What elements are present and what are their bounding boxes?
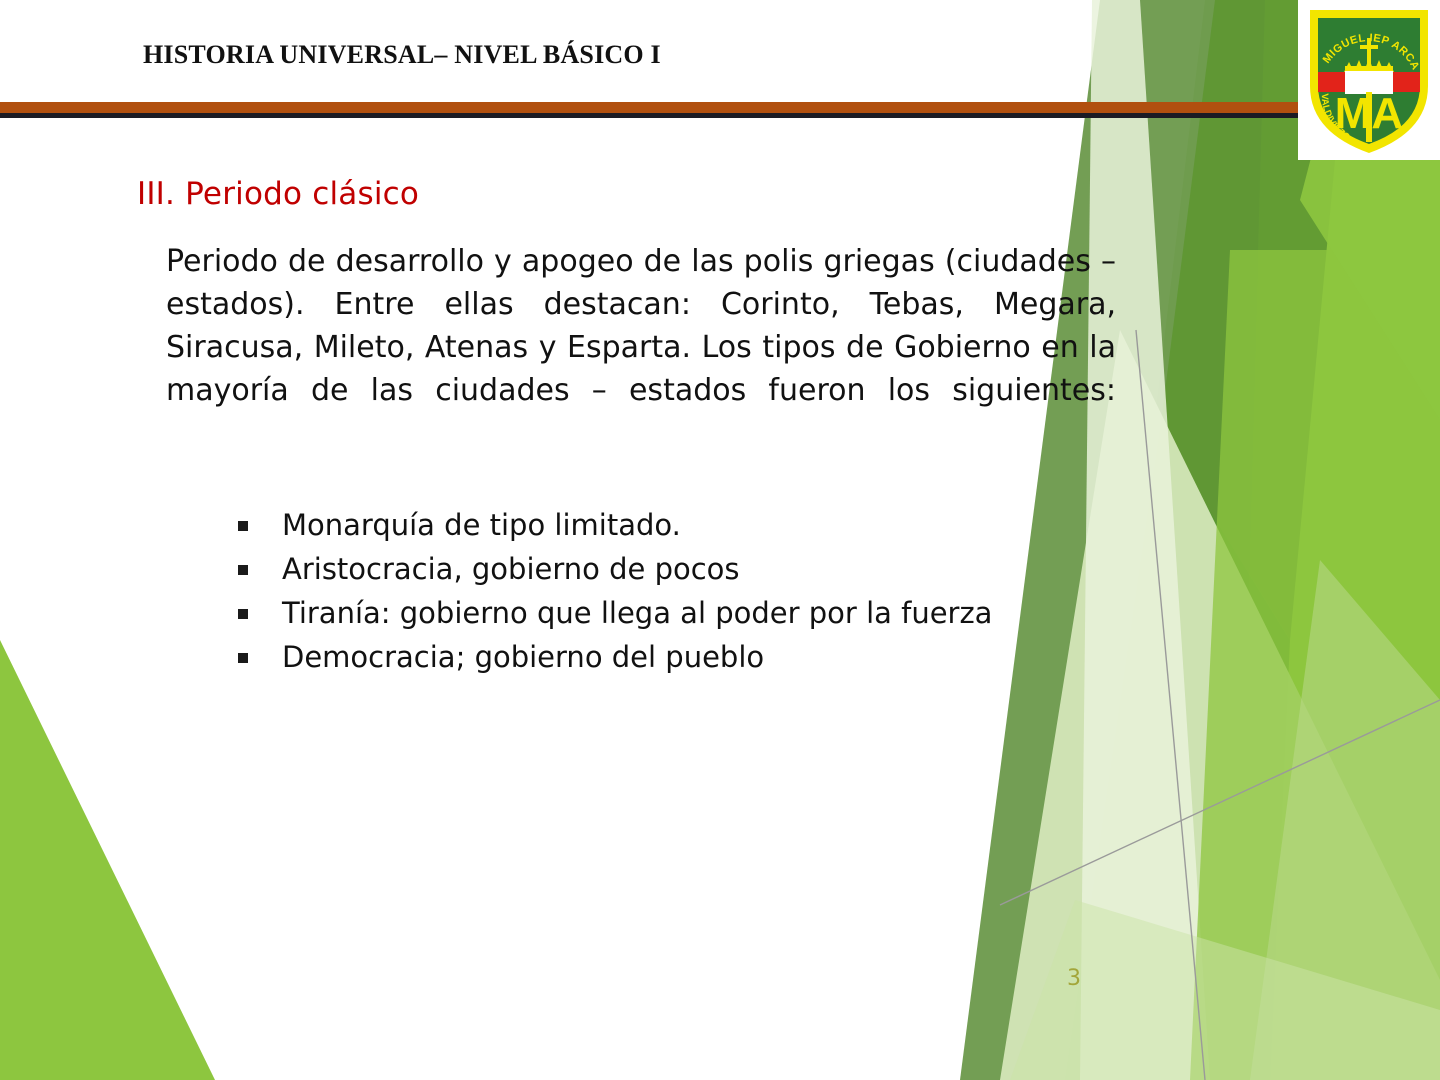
list-item: Monarquía de tipo limitado. <box>238 503 992 547</box>
shield-icon: MIGUEL IEP ARCANGEL MA VALDIVIEZO S.M. <box>1298 0 1440 160</box>
band-white-top-trim <box>1345 66 1393 71</box>
list-item-label: Democracia; gobierno del pueblo <box>282 640 764 674</box>
section-heading: III. Periodo clásico <box>137 176 419 212</box>
list-item: Democracia; gobierno del pueblo <box>238 635 992 679</box>
bullet-square-icon <box>238 565 248 575</box>
list-item-label: Tiranía: gobierno que llega al poder por… <box>282 596 992 630</box>
slide-content: III. Periodo clásico Periodo de desarrol… <box>0 0 1440 1080</box>
list-item-label: Monarquía de tipo limitado. <box>282 508 681 542</box>
list-item-label: Aristocracia, gobierno de pocos <box>282 552 740 586</box>
school-logo: MIGUEL IEP ARCANGEL MA VALDIVIEZO S.M. <box>1298 0 1440 160</box>
logo-monogram-stem <box>1366 92 1372 142</box>
bullet-square-icon <box>238 653 248 663</box>
cross-icon-horizontal <box>1360 45 1378 49</box>
list-item: Tiranía: gobierno que llega al poder por… <box>238 591 992 635</box>
government-types-list: Monarquía de tipo limitado. Aristocracia… <box>238 503 992 679</box>
slide-canvas: HISTORIA UNIVERSAL– NIVEL BÁSICO I MIGUE… <box>0 0 1440 1080</box>
page-number: 3 <box>1067 966 1081 991</box>
bullet-square-icon <box>238 609 248 619</box>
list-item: Aristocracia, gobierno de pocos <box>238 547 992 591</box>
intro-paragraph: Periodo de desarrollo y apogeo de las po… <box>166 240 1116 455</box>
bullet-square-icon <box>238 521 248 531</box>
